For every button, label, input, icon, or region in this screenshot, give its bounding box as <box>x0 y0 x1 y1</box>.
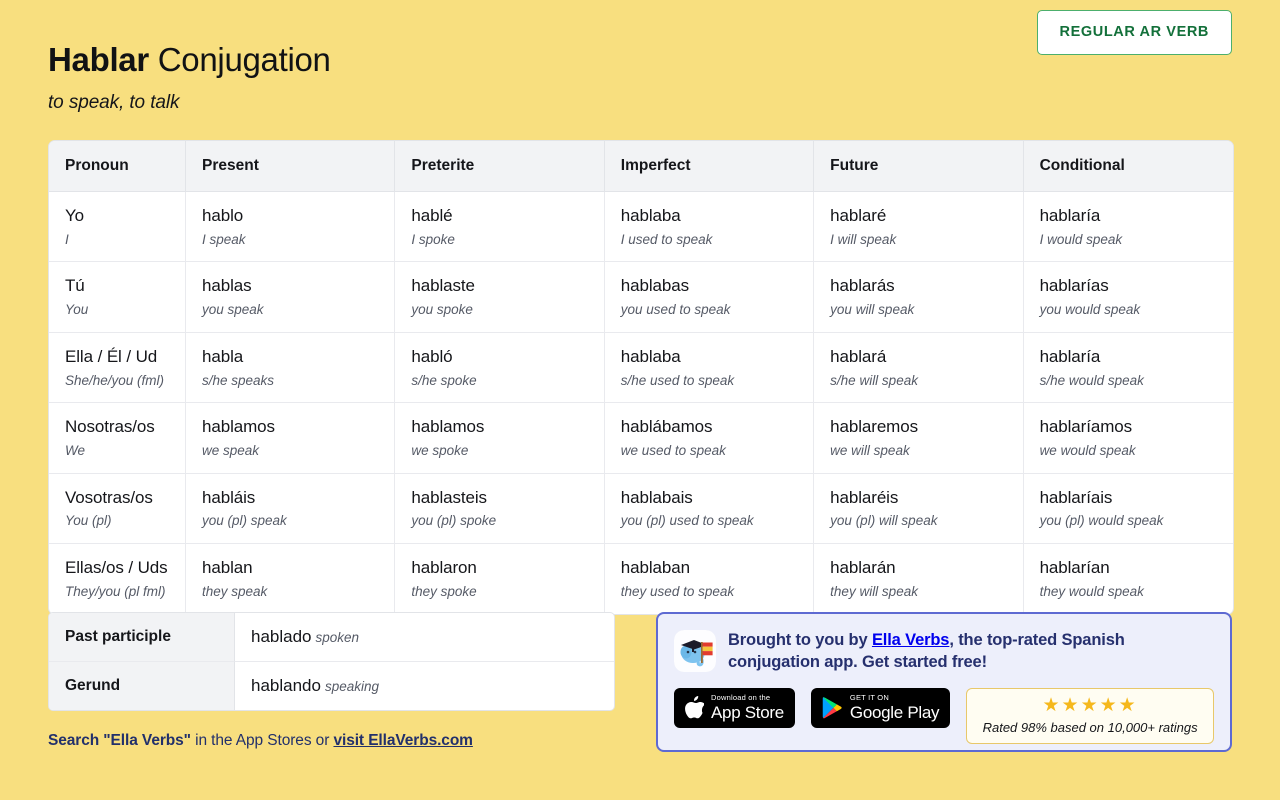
pronoun-gloss: They/you (pl fml) <box>65 583 185 601</box>
conjugation-cell: hablabaisyou (pl) used to speak <box>605 474 814 544</box>
verb-form-label: Past participle <box>49 613 235 662</box>
conjugation-gloss: they used to speak <box>621 583 813 601</box>
conjugation-cell: hablaronthey spoke <box>395 544 604 613</box>
conjugation-cell: hablaríasyou would speak <box>1024 262 1233 332</box>
promo-box: Brought to you by Ella Verbs, the top-ra… <box>656 612 1232 752</box>
pronoun-gloss: You <box>65 301 185 319</box>
footer-middle-text: in the App Stores or <box>191 732 334 749</box>
conjugation-form: hablarás <box>830 275 1022 298</box>
conjugation-cell: hablasteisyou (pl) spoke <box>395 474 604 544</box>
ella-verbs-app-icon <box>674 630 716 672</box>
pronoun-text: Ellas/os / Uds <box>65 557 185 580</box>
conjugation-form: habla <box>202 346 394 369</box>
conjugation-cell: hablaremoswe will speak <box>814 403 1023 473</box>
rating-text: Rated 98% based on 10,000+ ratings <box>983 720 1198 735</box>
pronoun-gloss: We <box>65 442 185 460</box>
table-row: YoIhabloI speakhabléI spokehablabaI used… <box>49 192 1233 262</box>
conjugation-form: hablamos <box>202 416 394 439</box>
pronoun-cell: Vosotras/osYou (pl) <box>49 474 186 544</box>
conjugation-cell: hablamoswe spoke <box>395 403 604 473</box>
conjugation-gloss: they would speak <box>1040 583 1233 601</box>
table-body: YoIhabloI speakhabléI spokehablabaI used… <box>49 192 1233 614</box>
conjugation-form: hablaréis <box>830 487 1022 510</box>
conjugation-form: hablaban <box>621 557 813 580</box>
page-header: Hablar Conjugation to speak, to talk REG… <box>48 0 1232 114</box>
conjugation-form: hablaba <box>621 205 813 228</box>
app-store-button[interactable]: Download on the App Store <box>674 688 795 728</box>
conjugation-form: hablarán <box>830 557 1022 580</box>
google-play-icon <box>822 696 843 719</box>
pronoun-text: Nosotras/os <box>65 416 185 439</box>
conjugation-gloss: you (pl) speak <box>202 512 394 530</box>
app-store-small-text: Download on the <box>711 694 784 702</box>
conjugation-gloss: s/he will speak <box>830 372 1022 390</box>
google-play-button[interactable]: GET IT ON Google Play <box>811 688 950 728</box>
ella-verbs-link[interactable]: Ella Verbs <box>872 631 949 649</box>
conjugation-form: hablaba <box>621 346 813 369</box>
conjugation-form: habló <box>411 346 603 369</box>
conjugation-form: hablábamos <box>621 416 813 439</box>
conjugation-gloss: we speak <box>202 442 394 460</box>
table-header: PronounPresentPreteriteImperfectFutureCo… <box>49 141 1233 192</box>
conjugation-cell: habloI speak <box>186 192 395 262</box>
conjugation-form: hablan <box>202 557 394 580</box>
promo-text-before: Brought to you by <box>728 631 872 649</box>
column-header-imperfect: Imperfect <box>605 141 814 192</box>
conjugation-gloss: they speak <box>202 583 394 601</box>
column-header-present: Present <box>186 141 395 192</box>
conjugation-cell: hablasteyou spoke <box>395 262 604 332</box>
conjugation-gloss: I used to speak <box>621 231 813 249</box>
conjugation-form: hablamos <box>411 416 603 439</box>
app-store-big-text: App Store <box>711 704 784 721</box>
pronoun-text: Yo <box>65 205 185 228</box>
conjugation-cell: hablas/he speaks <box>186 333 395 403</box>
elephant-mascot-icon <box>674 630 716 672</box>
google-play-big-text: Google Play <box>850 704 939 721</box>
pronoun-gloss: You (pl) <box>65 512 185 530</box>
star-rating-icon: ★★★★★ <box>1043 696 1138 715</box>
verb-type-badge: REGULAR AR VERB <box>1037 10 1232 55</box>
pronoun-cell: TúYou <box>49 262 186 332</box>
verb-form-value: hablandospeaking <box>235 662 614 710</box>
table-row: Ellas/os / UdsThey/you (pl fml)hablanthe… <box>49 544 1233 613</box>
pronoun-cell: Nosotras/osWe <box>49 403 186 473</box>
conjugation-cell: hablaríamoswe would speak <box>1024 403 1233 473</box>
conjugation-cell: hablaréisyou (pl) will speak <box>814 474 1023 544</box>
conjugation-gloss: you (pl) spoke <box>411 512 603 530</box>
conjugation-cell: hablabaI used to speak <box>605 192 814 262</box>
rating-badge: ★★★★★ Rated 98% based on 10,000+ ratings <box>966 688 1214 744</box>
conjugation-cell: hablaríaI would speak <box>1024 192 1233 262</box>
conjugation-gloss: you will speak <box>830 301 1022 319</box>
promo-text: Brought to you by Ella Verbs, the top-ra… <box>728 628 1214 674</box>
verb-form-label: Gerund <box>49 662 235 710</box>
conjugation-gloss: I speak <box>202 231 394 249</box>
conjugation-form: hablarían <box>1040 557 1233 580</box>
conjugation-cell: hablabas/he used to speak <box>605 333 814 403</box>
conjugation-gloss: I will speak <box>830 231 1022 249</box>
google-play-label: GET IT ON Google Play <box>850 694 939 721</box>
conjugation-cell: habléI spoke <box>395 192 604 262</box>
conjugation-gloss: they spoke <box>411 583 603 601</box>
table-header-row: PronounPresentPreteriteImperfectFutureCo… <box>49 141 1233 192</box>
table-row: Nosotras/osWehablamoswe speakhablamoswe … <box>49 403 1233 473</box>
conjugation-gloss: s/he spoke <box>411 372 603 390</box>
conjugation-form: hablasteis <box>411 487 603 510</box>
conjugation-cell: hablarás/he will speak <box>814 333 1023 403</box>
conjugation-cell: hablaránthey will speak <box>814 544 1023 613</box>
conjugation-form: hablarías <box>1040 275 1233 298</box>
pronoun-text: Ella / Él / Ud <box>65 346 185 369</box>
conjugation-gloss: you (pl) will speak <box>830 512 1022 530</box>
verb-form-text: hablando <box>251 676 321 695</box>
conjugation-gloss: you speak <box>202 301 394 319</box>
table-row: Vosotras/osYou (pl)habláisyou (pl) speak… <box>49 474 1233 544</box>
conjugation-form: hablaríamos <box>1040 416 1233 439</box>
bottom-section: Past participlehabladospokenGerundhablan… <box>48 612 1232 750</box>
conjugation-gloss: you (pl) would speak <box>1040 512 1233 530</box>
column-header-pronoun: Pronoun <box>49 141 186 192</box>
table-row: Ella / Él / UdShe/he/you (fml)hablas/he … <box>49 333 1233 403</box>
conjugation-gloss: s/he would speak <box>1040 372 1233 390</box>
conjugation-gloss: we would speak <box>1040 442 1233 460</box>
column-header-conditional: Conditional <box>1024 141 1233 192</box>
conjugation-form: hablaría <box>1040 346 1233 369</box>
footer-search-text: Search "Ella Verbs" <box>48 732 191 749</box>
conjugation-gloss: we used to speak <box>621 442 813 460</box>
conjugation-cell: hablabanthey used to speak <box>605 544 814 613</box>
page-title-suffix: Conjugation <box>149 41 331 78</box>
pronoun-gloss: She/he/you (fml) <box>65 372 185 390</box>
verb-form-gloss: speaking <box>325 679 379 694</box>
conjugation-form: hablaste <box>411 275 603 298</box>
verb-form-gloss: spoken <box>316 630 360 645</box>
conjugation-form: hablaría <box>1040 205 1233 228</box>
conjugation-page: Hablar Conjugation to speak, to talk REG… <box>0 0 1280 800</box>
conjugation-cell: hablós/he spoke <box>395 333 604 403</box>
verb-form-text: hablado <box>251 627 312 646</box>
conjugation-cell: hablamoswe speak <box>186 403 395 473</box>
conjugation-form: hablaríais <box>1040 487 1233 510</box>
conjugation-gloss: s/he used to speak <box>621 372 813 390</box>
verb-form-row: Past participlehabladospoken <box>49 613 614 662</box>
verb-name: Hablar <box>48 41 149 78</box>
conjugation-cell: habláisyou (pl) speak <box>186 474 395 544</box>
conjugation-gloss: I spoke <box>411 231 603 249</box>
conjugation-cell: hablarías/he would speak <box>1024 333 1233 403</box>
conjugation-form: hablé <box>411 205 603 228</box>
ellaverbs-website-link[interactable]: visit EllaVerbs.com <box>333 732 472 749</box>
conjugation-form: hablaremos <box>830 416 1022 439</box>
conjugation-cell: hablaríaisyou (pl) would speak <box>1024 474 1233 544</box>
verb-forms-table: Past participlehabladospokenGerundhablan… <box>48 612 615 711</box>
conjugation-gloss: they will speak <box>830 583 1022 601</box>
conjugation-cell: hablarásyou will speak <box>814 262 1023 332</box>
verb-form-row: Gerundhablandospeaking <box>49 662 614 710</box>
apple-icon <box>685 696 704 719</box>
pronoun-cell: Ellas/os / UdsThey/you (pl fml) <box>49 544 186 613</box>
pronoun-text: Vosotras/os <box>65 487 185 510</box>
conjugation-cell: hablaríanthey would speak <box>1024 544 1233 613</box>
conjugation-gloss: I would speak <box>1040 231 1233 249</box>
pronoun-gloss: I <box>65 231 185 249</box>
app-store-label: Download on the App Store <box>711 694 784 721</box>
conjugation-gloss: you spoke <box>411 301 603 319</box>
conjugation-form: hablaron <box>411 557 603 580</box>
pronoun-cell: Ella / Él / UdShe/he/you (fml) <box>49 333 186 403</box>
conjugation-form: hablaré <box>830 205 1022 228</box>
conjugation-cell: hablaréI will speak <box>814 192 1023 262</box>
conjugation-form: habláis <box>202 487 394 510</box>
pronoun-cell: YoI <box>49 192 186 262</box>
verb-translation: to speak, to talk <box>48 92 1232 114</box>
conjugation-gloss: we spoke <box>411 442 603 460</box>
table-row: TúYouhablasyou speakhablasteyou spokehab… <box>49 262 1233 332</box>
conjugation-form: hablabas <box>621 275 813 298</box>
conjugation-form: hablabais <box>621 487 813 510</box>
conjugation-form: hablará <box>830 346 1022 369</box>
pronoun-text: Tú <box>65 275 185 298</box>
conjugation-gloss: you would speak <box>1040 301 1233 319</box>
promo-top: Brought to you by Ella Verbs, the top-ra… <box>674 628 1214 674</box>
conjugation-cell: hablabasyou used to speak <box>605 262 814 332</box>
conjugation-cell: hablábamoswe used to speak <box>605 403 814 473</box>
verb-form-value: habladospoken <box>235 613 614 662</box>
promo-bottom: Download on the App Store GET IT ON Goog… <box>674 688 1214 744</box>
conjugation-gloss: s/he speaks <box>202 372 394 390</box>
conjugation-form: hablas <box>202 275 394 298</box>
conjugation-gloss: you (pl) used to speak <box>621 512 813 530</box>
column-header-preterite: Preterite <box>395 141 604 192</box>
conjugation-cell: hablanthey speak <box>186 544 395 613</box>
google-play-small-text: GET IT ON <box>850 694 939 702</box>
conjugation-gloss: we will speak <box>830 442 1022 460</box>
conjugation-cell: hablasyou speak <box>186 262 395 332</box>
conjugation-form: hablo <box>202 205 394 228</box>
conjugation-gloss: you used to speak <box>621 301 813 319</box>
conjugation-table: PronounPresentPreteriteImperfectFutureCo… <box>48 140 1234 615</box>
column-header-future: Future <box>814 141 1023 192</box>
